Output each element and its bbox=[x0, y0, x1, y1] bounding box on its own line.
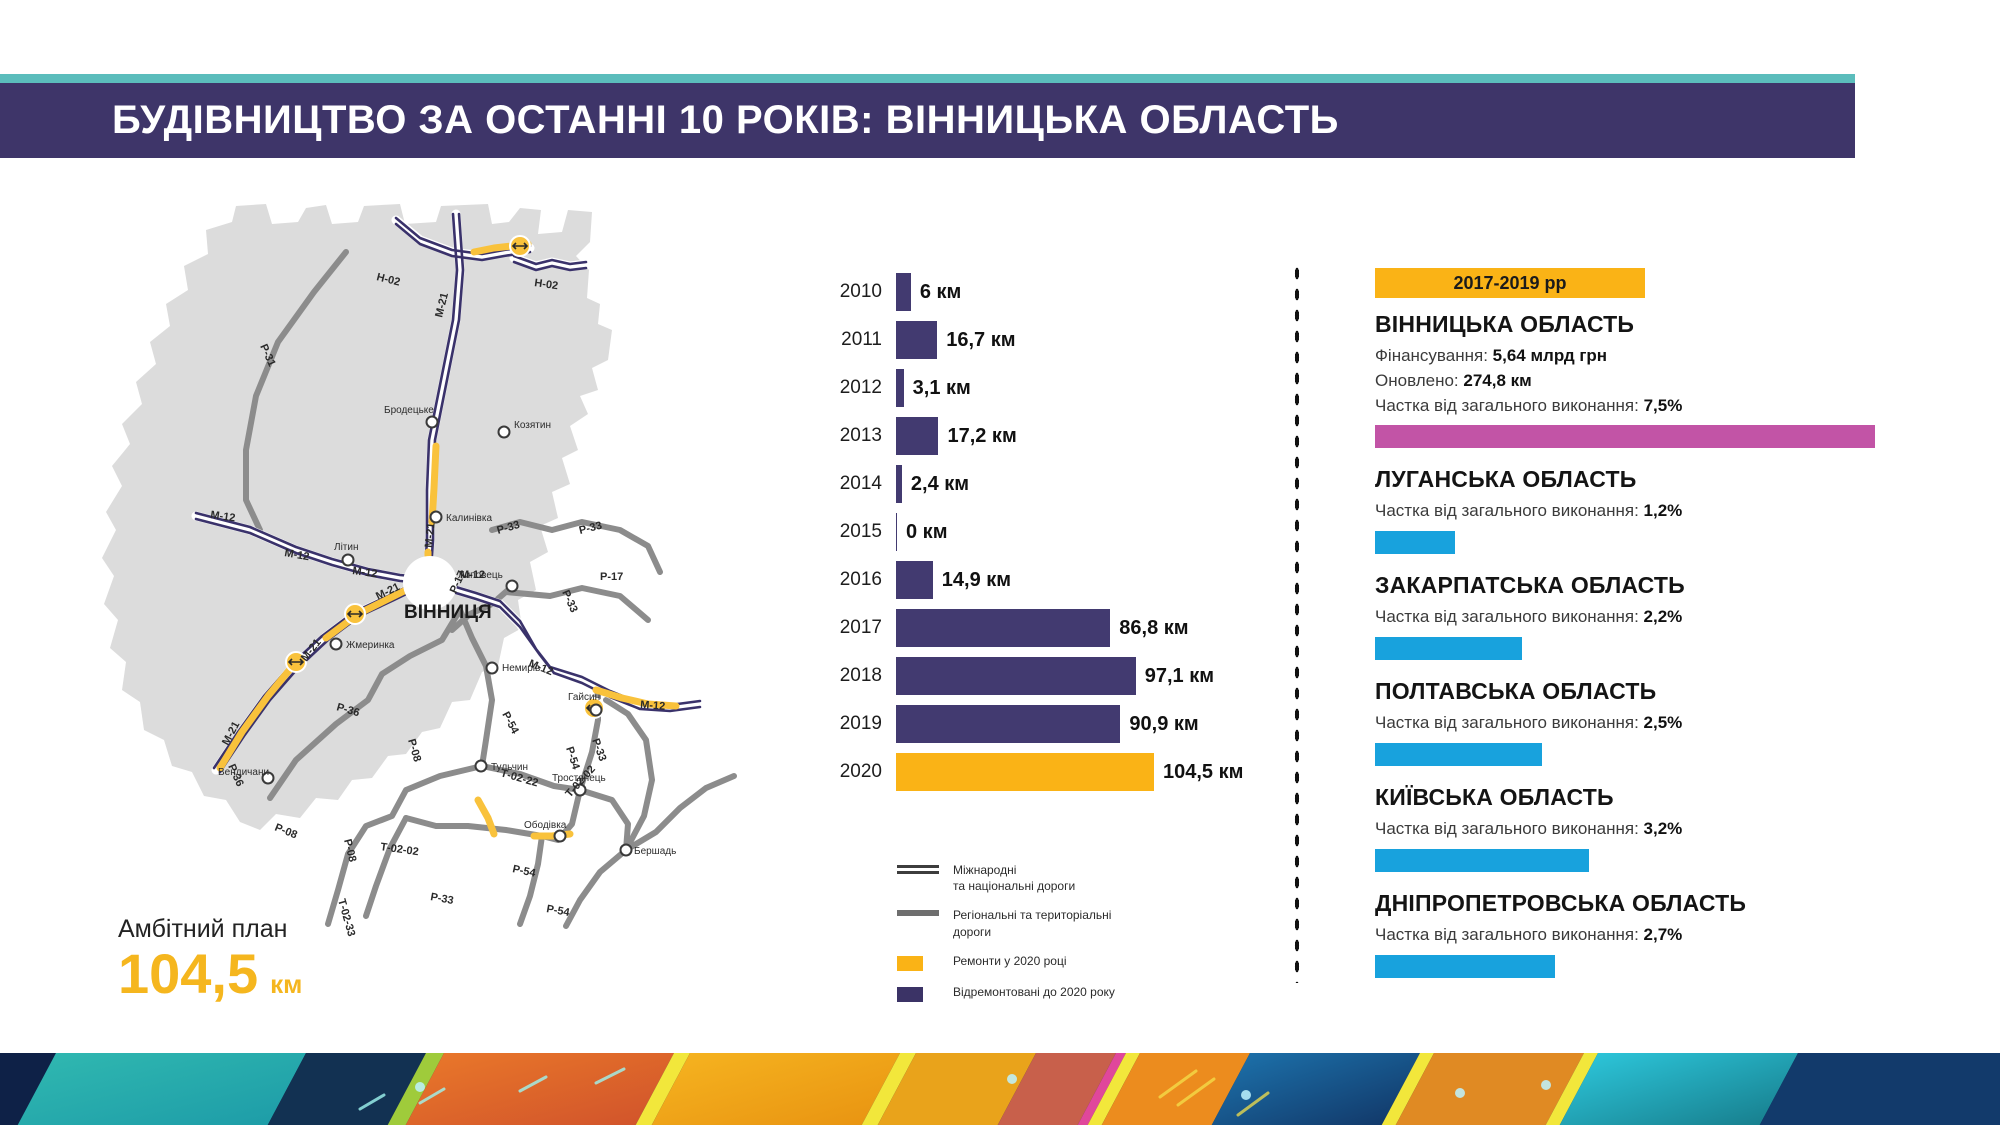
legend-label: Регіональні та територіальнідороги bbox=[953, 907, 1111, 939]
bar-year-label: 2020 bbox=[830, 761, 896, 783]
bar-row: 20106 км bbox=[830, 268, 1270, 316]
bar-track: 16,7 км bbox=[896, 316, 1270, 364]
region-share-bar bbox=[1375, 743, 1542, 766]
svg-text:Літин: Літин bbox=[334, 542, 358, 553]
region-block: ДНІПРОПЕТРОВСЬКА ОБЛАСТЬЧастка від загал… bbox=[1375, 890, 1905, 978]
featured-region-block: ВІННИЦЬКА ОБЛАСТЬ Фінансування: 5,64 млр… bbox=[1375, 311, 1905, 448]
region-share-line: Частка від загального виконання: 2,7% bbox=[1375, 923, 1905, 948]
funding-value: 5,64 млрд грн bbox=[1493, 346, 1607, 365]
legend-label: Ремонти у 2020 році bbox=[953, 953, 1066, 969]
bar-row: 201990,9 км bbox=[830, 700, 1270, 748]
bar-year-label: 2013 bbox=[830, 425, 896, 447]
svg-text:Козятин: Козятин bbox=[514, 420, 551, 431]
bar-year-label: 2014 bbox=[830, 473, 896, 495]
bar-row: 20150 км bbox=[830, 508, 1270, 556]
bar-year-label: 2018 bbox=[830, 665, 896, 687]
bar-year-label: 2012 bbox=[830, 377, 896, 399]
bar-track: 6 км bbox=[896, 268, 1270, 316]
region-block: ПОЛТАВСЬКА ОБЛАСТЬЧастка від загального … bbox=[1375, 678, 1905, 766]
region-name: ПОЛТАВСЬКА ОБЛАСТЬ bbox=[1375, 678, 1905, 705]
bar-fill bbox=[896, 561, 933, 599]
featured-share-bar bbox=[1375, 425, 1875, 448]
share-value: 2,5% bbox=[1644, 713, 1683, 732]
plan-unit: км bbox=[270, 969, 302, 1000]
bar-track: 0 км bbox=[896, 508, 1270, 556]
footer-decoration bbox=[0, 1053, 2000, 1125]
legend-row: Регіональні та територіальнідороги bbox=[897, 907, 1237, 939]
bar-row: 20123,1 км bbox=[830, 364, 1270, 412]
region-share-bar bbox=[1375, 637, 1522, 660]
bar-value-label: 90,9 км bbox=[1120, 713, 1198, 736]
bar-row: 201614,9 км bbox=[830, 556, 1270, 604]
share-value: 3,2% bbox=[1644, 819, 1683, 838]
ambitious-plan-block: Амбітний план 104,5 км bbox=[118, 915, 448, 1002]
bar-fill bbox=[896, 609, 1110, 647]
region-block: ЗАКАРПАТСЬКА ОБЛАСТЬЧастка від загальног… bbox=[1375, 572, 1905, 660]
svg-text:Р-54: Р-54 bbox=[511, 863, 537, 880]
region-share-bar bbox=[1375, 955, 1555, 978]
bar-track: 17,2 км bbox=[896, 412, 1270, 460]
bar-value-label: 2,4 км bbox=[902, 473, 969, 496]
share-label: Частка від загального виконання: bbox=[1375, 396, 1639, 415]
share-label: Частка від загального виконання: bbox=[1375, 713, 1644, 732]
city-bershad: Бершадь bbox=[621, 845, 677, 858]
region-name: ЛУГАНСЬКА ОБЛАСТЬ bbox=[1375, 466, 1905, 493]
yearly-bar-chart: 20106 км201116,7 км20123,1 км201317,2 км… bbox=[830, 268, 1270, 796]
legend-label: Міжнародніта національні дороги bbox=[953, 862, 1075, 894]
svg-text:Р-33: Р-33 bbox=[429, 891, 454, 907]
featured-region-name: ВІННИЦЬКА ОБЛАСТЬ bbox=[1375, 311, 1905, 338]
bar-value-label: 86,8 км bbox=[1110, 617, 1188, 640]
featured-updated-line: Оновлено: 274,8 км bbox=[1375, 369, 1905, 394]
map-legend: Міжнародніта національні дорогиРегіональ… bbox=[897, 862, 1237, 1015]
share-label: Частка від загального виконання: bbox=[1375, 819, 1644, 838]
bar-year-label: 2015 bbox=[830, 521, 896, 543]
bar-track: 104,5 км bbox=[896, 748, 1270, 796]
legend-row: Міжнародніта національні дороги bbox=[897, 862, 1237, 894]
region-share-line: Частка від загального виконання: 3,2% bbox=[1375, 817, 1905, 842]
svg-text:Р-54: Р-54 bbox=[499, 710, 521, 737]
bar-track: 86,8 км bbox=[896, 604, 1270, 652]
featured-funding-line: Фінансування: 5,64 млрд грн bbox=[1375, 344, 1905, 369]
bar-value-label: 3,1 км bbox=[904, 377, 971, 400]
region-name: КИЇВСЬКА ОБЛАСТЬ bbox=[1375, 784, 1905, 811]
share-label: Частка від загального виконання: bbox=[1375, 925, 1644, 944]
region-name: ЗАКАРПАТСЬКА ОБЛАСТЬ bbox=[1375, 572, 1905, 599]
header-band: БУДІВНИЦТВО ЗА ОСТАННІ 10 РОКІВ: ВІННИЦЬ… bbox=[0, 83, 1855, 158]
svg-text:Р-08: Р-08 bbox=[273, 822, 299, 842]
bar-year-label: 2010 bbox=[830, 281, 896, 303]
oblast-shape bbox=[102, 204, 612, 830]
legend-label: Відремонтовані до 2020 року bbox=[953, 984, 1115, 1000]
legend-row: Відремонтовані до 2020 року bbox=[897, 984, 1237, 1002]
purple-swatch-icon bbox=[897, 984, 939, 1002]
bar-row: 201897,1 км bbox=[830, 652, 1270, 700]
svg-text:Калинівка: Калинівка bbox=[446, 513, 492, 524]
updated-label: Оновлено: bbox=[1375, 371, 1459, 390]
funding-label: Фінансування: bbox=[1375, 346, 1488, 365]
other-regions-list: ЛУГАНСЬКА ОБЛАСТЬЧастка від загального в… bbox=[1375, 466, 1905, 977]
share-value: 2,2% bbox=[1644, 607, 1683, 626]
bar-row: 2020104,5 км bbox=[830, 748, 1270, 796]
bar-year-label: 2019 bbox=[830, 713, 896, 735]
region-block: ЛУГАНСЬКА ОБЛАСТЬЧастка від загального в… bbox=[1375, 466, 1905, 554]
bar-fill bbox=[896, 417, 938, 455]
yellow-swatch-icon bbox=[897, 953, 939, 971]
share-value: 2,7% bbox=[1644, 925, 1683, 944]
bar-value-label: 17,2 км bbox=[938, 425, 1016, 448]
region-block: КИЇВСЬКА ОБЛАСТЬЧастка від загального ви… bbox=[1375, 784, 1905, 872]
bar-row: 201317,2 км bbox=[830, 412, 1270, 460]
legend-row: Ремонти у 2020 році bbox=[897, 953, 1237, 971]
bar-value-label: 16,7 км bbox=[937, 329, 1015, 352]
region-map: ВІННИЦЯ Бродецьке Козятин Калинівка Літи… bbox=[100, 200, 800, 990]
bar-track: 3,1 км bbox=[896, 364, 1270, 412]
svg-text:Р-54: Р-54 bbox=[563, 745, 582, 772]
region-share-line: Частка від загального виконання: 2,5% bbox=[1375, 711, 1905, 736]
bar-row: 201116,7 км bbox=[830, 316, 1270, 364]
bar-track: 97,1 км bbox=[896, 652, 1270, 700]
bar-value-label: 14,9 км bbox=[933, 569, 1011, 592]
bar-value-label: 97,1 км bbox=[1136, 665, 1214, 688]
svg-text:Р-54: Р-54 bbox=[545, 903, 571, 919]
svg-text:М-12: М-12 bbox=[640, 699, 666, 713]
bar-fill bbox=[896, 273, 911, 311]
bar-fill bbox=[896, 705, 1120, 743]
bar-value-label: 0 км bbox=[897, 521, 947, 544]
map-svg: ВІННИЦЯ Бродецьке Козятин Калинівка Літи… bbox=[100, 200, 800, 990]
svg-text:Ободівка: Ободівка bbox=[524, 819, 567, 831]
plan-value: 104,5 bbox=[118, 946, 258, 1002]
region-share-bar bbox=[1375, 531, 1455, 554]
bar-fill bbox=[896, 753, 1154, 791]
bar-track: 14,9 км bbox=[896, 556, 1270, 604]
bar-fill bbox=[896, 321, 937, 359]
region-share-line: Частка від загального виконання: 1,2% bbox=[1375, 499, 1905, 524]
share-value: 1,2% bbox=[1644, 501, 1683, 520]
period-badge: 2017-2019 рр bbox=[1375, 268, 1645, 298]
region-name: ДНІПРОПЕТРОВСЬКА ОБЛАСТЬ bbox=[1375, 890, 1905, 917]
share-label: Частка від загального виконання: bbox=[1375, 607, 1644, 626]
city-kalynivka: Калинівка bbox=[431, 512, 493, 525]
double-line-icon bbox=[897, 862, 939, 877]
footer-stripes bbox=[0, 1053, 2000, 1125]
featured-share-line: Частка від загального виконання: 7,5% bbox=[1375, 394, 1905, 419]
svg-text:Жмеринка: Жмеринка bbox=[346, 640, 395, 651]
share-label: Частка від загального виконання: bbox=[1375, 501, 1644, 520]
region-share-bar bbox=[1375, 849, 1589, 872]
bar-row: 201786,8 км bbox=[830, 604, 1270, 652]
bar-year-label: 2017 bbox=[830, 617, 896, 639]
single-line-icon bbox=[897, 907, 939, 916]
bar-track: 90,9 км bbox=[896, 700, 1270, 748]
bar-year-label: 2011 bbox=[830, 329, 896, 351]
region-share-line: Частка від загального виконання: 2,2% bbox=[1375, 605, 1905, 630]
bar-fill bbox=[896, 657, 1136, 695]
bar-value-label: 6 км bbox=[911, 281, 961, 304]
svg-text:Бершадь: Бершадь bbox=[634, 846, 676, 857]
updated-value: 274,8 км bbox=[1463, 371, 1531, 390]
page-title: БУДІВНИЦТВО ЗА ОСТАННІ 10 РОКІВ: ВІННИЦЬ… bbox=[0, 98, 1339, 143]
vertical-dotted-divider bbox=[1293, 263, 1301, 983]
svg-text:Гайсин: Гайсин bbox=[568, 692, 600, 703]
share-value: 7,5% bbox=[1644, 396, 1683, 415]
bar-row: 20142,4 км bbox=[830, 460, 1270, 508]
plan-label: Амбітний план bbox=[118, 915, 448, 944]
svg-text:Бродецьке: Бродецьке bbox=[384, 405, 434, 416]
bar-year-label: 2016 bbox=[830, 569, 896, 591]
capital-label: ВІННИЦЯ bbox=[404, 602, 492, 623]
bar-value-label: 104,5 км bbox=[1154, 761, 1243, 784]
bar-fill bbox=[896, 369, 904, 407]
svg-text:Р-17: Р-17 bbox=[600, 571, 623, 583]
regions-comparison-panel: 2017-2019 рр ВІННИЦЬКА ОБЛАСТЬ Фінансува… bbox=[1375, 268, 1905, 996]
bar-track: 2,4 км bbox=[896, 460, 1270, 508]
